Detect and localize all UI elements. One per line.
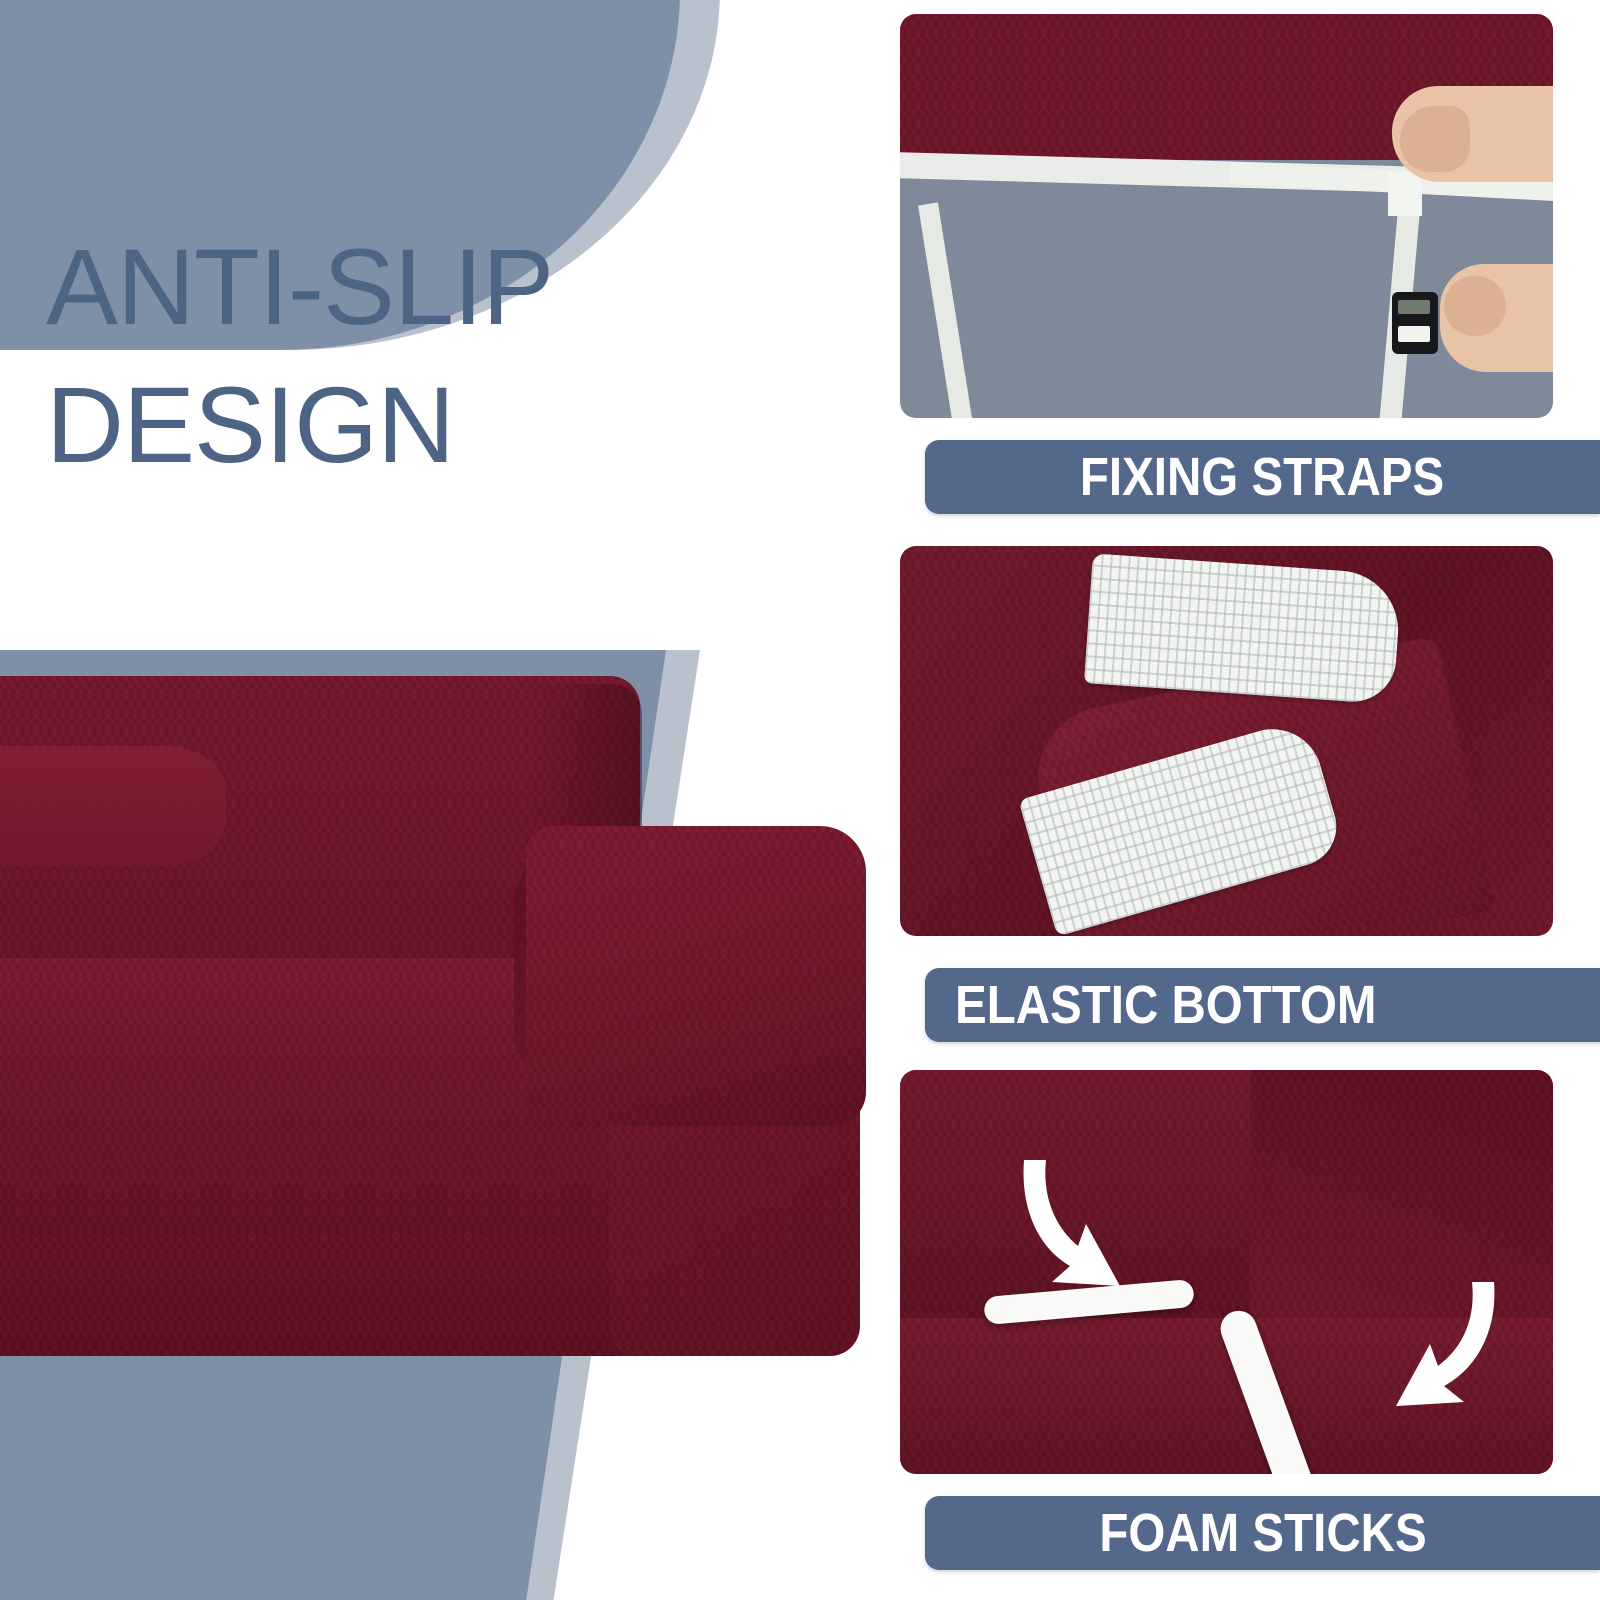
photo-elastic-bottom [900, 546, 1553, 936]
left-panel: ANTI-SLIP DESIGN [0, 0, 880, 1600]
label-foam-sticks: FOAM STICKS [925, 1496, 1600, 1570]
title-line-2: DESIGN [46, 356, 746, 494]
photo-fixing-straps [900, 14, 1553, 418]
label-fixing-straps: FIXING STRAPS [925, 440, 1600, 514]
hand-upper-fingers [1400, 106, 1470, 172]
label-text: FIXING STRAPS [1080, 450, 1444, 504]
arrow-down-right-icon [1356, 1278, 1506, 1418]
buckle-slot-upper [1398, 300, 1430, 314]
label-text: FOAM STICKS [1099, 1506, 1426, 1560]
infographic-canvas: ANTI-SLIP DESIGN [0, 0, 1600, 1600]
page-title: ANTI-SLIP DESIGN [46, 218, 746, 494]
elastic-band-upper [1084, 553, 1402, 704]
arrow-down-left-icon [1012, 1154, 1162, 1304]
strap-tab [1388, 172, 1422, 216]
photo-foam-sticks [900, 1070, 1553, 1474]
sofa-arm [526, 826, 866, 1126]
buckle-slot-lower [1398, 326, 1430, 342]
label-elastic-bottom: ELASTIC BOTTOM [925, 968, 1600, 1042]
title-line-1: ANTI-SLIP [46, 218, 746, 356]
sofa-product-photo [0, 676, 875, 1366]
hand-lower-fingers [1444, 276, 1506, 336]
label-text: ELASTIC BOTTOM [955, 978, 1377, 1032]
sofa-arm-roll [0, 746, 226, 866]
